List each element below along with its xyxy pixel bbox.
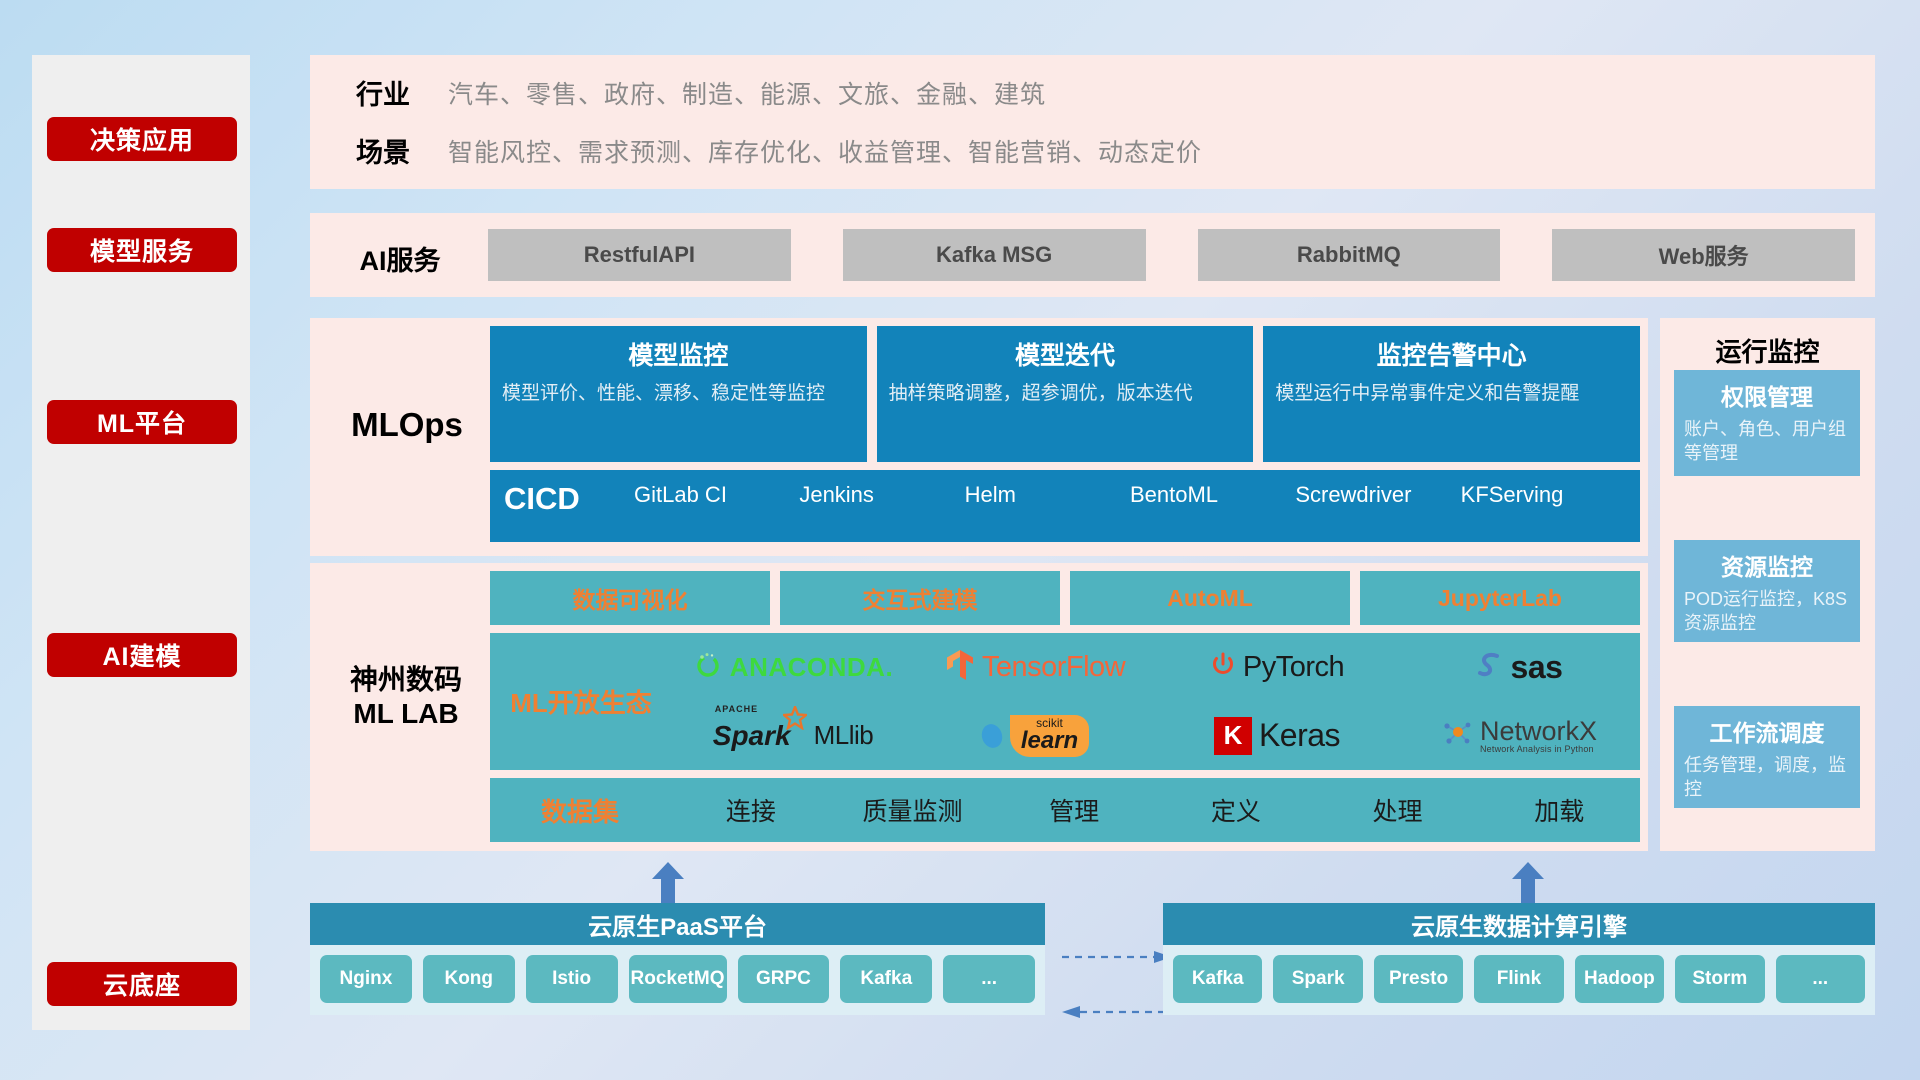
rail-item-ml-platform[interactable]: ML平台	[47, 400, 237, 444]
mlops-label: MLOps	[322, 406, 492, 444]
dataset-item-define[interactable]: 定义	[1155, 792, 1317, 828]
card-title: 模型监控	[502, 336, 855, 372]
cloud-paas-header: 云原生PaaS平台	[310, 903, 1045, 945]
cicd-item-kfserving[interactable]: KFServing	[1461, 482, 1626, 507]
tensorflow-icon	[945, 648, 975, 687]
networkx-subtitle: Network Analysis in Python	[1480, 745, 1597, 754]
arrow-dashed-right	[1062, 950, 1172, 969]
dataset-title: 数据集	[490, 792, 670, 829]
cloud-data-engine-chip-list: Kafka Spark Presto Flink Hadoop Storm ..…	[1163, 945, 1875, 1015]
cloud-chip-nginx[interactable]: Nginx	[320, 955, 412, 1003]
card-title: 模型迭代	[889, 336, 1242, 372]
rail-item-ai-modeling[interactable]: AI建模	[47, 633, 237, 677]
cloud-chip-rocketmq[interactable]: RocketMQ	[629, 955, 727, 1003]
scikit-learn-badge: scikit learn	[1010, 715, 1089, 757]
scenario-row: 场景 智能风控、需求预测、库存优化、收益管理、智能营销、动态定价	[318, 131, 1202, 170]
ai-service-panel: AI服务 RestfulAPI Kafka MSG RabbitMQ Web服务	[310, 213, 1875, 297]
cloud-group-paas: 云原生PaaS平台 Nginx Kong Istio RocketMQ GRPC…	[310, 903, 1045, 1015]
cloud-chip-hadoop[interactable]: Hadoop	[1575, 955, 1664, 1003]
logo-pytorch: PyTorch	[1210, 650, 1344, 685]
tool-interactive-modeling[interactable]: 交互式建模	[780, 571, 1060, 625]
keras-icon: K	[1214, 717, 1252, 755]
tensorflow-wordmark: TensorFlow	[982, 651, 1125, 684]
card-desc: 账户、角色、用户组等管理	[1684, 418, 1850, 466]
logo-anaconda: ANACONDA.	[693, 650, 893, 685]
networkx-icon	[1441, 718, 1473, 753]
cicd-item-screwdriver[interactable]: Screwdriver	[1295, 482, 1460, 507]
logo-scikit-learn: scikit learn	[981, 715, 1089, 757]
ml-lab-label-line2: ML LAB	[318, 697, 494, 731]
cicd-title: CICD	[504, 482, 634, 516]
pytorch-icon	[1210, 650, 1236, 685]
card-title: 监控告警中心	[1275, 336, 1628, 372]
anaconda-icon	[693, 650, 723, 685]
cloud-chip-istio[interactable]: Istio	[526, 955, 618, 1003]
runtime-monitor-panel: 运行监控 权限管理 账户、角色、用户组等管理 资源监控 POD运行监控，K8S资…	[1660, 318, 1875, 851]
ai-service-label: AI服务	[330, 239, 470, 278]
card-desc: 任务管理，调度，监控	[1684, 754, 1850, 802]
monitor-card-permission[interactable]: 权限管理 账户、角色、用户组等管理	[1674, 370, 1860, 476]
ml-lab-label-line1: 神州数码	[318, 663, 494, 697]
cloud-chip-kafka2[interactable]: Kafka	[1173, 955, 1262, 1003]
sas-icon	[1476, 650, 1504, 685]
cicd-item-jenkins[interactable]: Jenkins	[799, 482, 964, 507]
runtime-monitor-title: 运行监控	[1660, 332, 1875, 369]
cloud-chip-storm[interactable]: Storm	[1675, 955, 1764, 1003]
tool-data-visualization[interactable]: 数据可视化	[490, 571, 770, 625]
dataset-item-load[interactable]: 加载	[1478, 792, 1640, 828]
cloud-chip-more2[interactable]: ...	[1776, 955, 1865, 1003]
mlops-panel: MLOps 模型监控 模型评价、性能、漂移、稳定性等监控 模型迭代 抽样策略调整…	[310, 318, 1648, 556]
decision-application-panel: 行业 汽车、零售、政府、制造、能源、文旅、金融、建筑 场景 智能风控、需求预测、…	[310, 55, 1875, 189]
mlops-card-alert-center[interactable]: 监控告警中心 模型运行中异常事件定义和告警提醒	[1263, 326, 1640, 462]
logo-tensorflow: TensorFlow	[945, 648, 1125, 687]
logo-keras: K Keras	[1214, 717, 1340, 755]
spark-icon: APACHE Spark	[713, 720, 791, 752]
card-desc: 模型评价、性能、漂移、稳定性等监控	[502, 381, 855, 406]
mllib-wordmark: MLlib	[814, 720, 874, 751]
industry-values: 汽车、零售、政府、制造、能源、文旅、金融、建筑	[448, 75, 1046, 111]
cloud-group-data-engine: 云原生数据计算引擎 Kafka Spark Presto Flink Hadoo…	[1163, 903, 1875, 1015]
sas-wordmark: sas	[1511, 649, 1563, 686]
scenario-label: 场景	[318, 131, 448, 170]
rail-item-cloud-base[interactable]: 云底座	[47, 962, 237, 1006]
dataset-item-quality[interactable]: 质量监测	[832, 792, 994, 828]
logo-sas: sas	[1476, 649, 1563, 686]
dataset-item-manage[interactable]: 管理	[993, 792, 1155, 828]
cicd-item-bentoml[interactable]: BentoML	[1130, 482, 1295, 507]
cloud-data-engine-header: 云原生数据计算引擎	[1163, 903, 1875, 945]
monitor-card-resource[interactable]: 资源监控 POD运行监控，K8S资源监控	[1674, 540, 1860, 642]
cloud-chip-presto[interactable]: Presto	[1374, 955, 1463, 1003]
ml-ecosystem-label: ML开放生态	[490, 683, 672, 720]
dataset-item-connect[interactable]: 连接	[670, 792, 832, 828]
ml-ecosystem-band: ML开放生态 ANACONDA.	[490, 633, 1640, 770]
mlops-card-list: 模型监控 模型评价、性能、漂移、稳定性等监控 模型迭代 抽样策略调整，超参调优，…	[490, 326, 1640, 462]
industry-row: 行业 汽车、零售、政府、制造、能源、文旅、金融、建筑	[318, 73, 1046, 112]
scenario-values: 智能风控、需求预测、库存优化、收益管理、智能营销、动态定价	[448, 133, 1202, 169]
arrow-up-paas	[650, 862, 686, 904]
tool-automl[interactable]: AutoML	[1070, 571, 1350, 625]
card-desc: 模型运行中异常事件定义和告警提醒	[1275, 381, 1628, 406]
networkx-wordmark-group: NetworkX Network Analysis in Python	[1480, 718, 1597, 754]
dataset-bar: 数据集 连接 质量监测 管理 定义 处理 加载	[490, 778, 1640, 842]
ml-lab-label: 神州数码 ML LAB	[318, 663, 494, 731]
ml-lab-panel: 神州数码 ML LAB 数据可视化 交互式建模 AutoML JupyterLa…	[310, 563, 1648, 851]
card-desc: 抽样策略调整，超参调优，版本迭代	[889, 381, 1242, 406]
cicd-bar: CICD GitLab CI Jenkins Helm BentoML Scre…	[490, 470, 1640, 542]
cloud-chip-grpc[interactable]: GRPC	[738, 955, 830, 1003]
tool-jupyterlab[interactable]: JupyterLab	[1360, 571, 1640, 625]
anaconda-wordmark: ANACONDA.	[730, 652, 893, 683]
networkx-wordmark: NetworkX	[1480, 718, 1597, 745]
learn-word: learn	[1021, 729, 1078, 753]
ml-lab-tool-list: 数据可视化 交互式建模 AutoML JupyterLab	[490, 571, 1640, 625]
cloud-chip-kong[interactable]: Kong	[423, 955, 515, 1003]
stack-layer-rail: 决策应用 模型服务 ML平台 AI建模 云底座	[32, 55, 250, 1030]
rail-item-model-service[interactable]: 模型服务	[47, 228, 237, 272]
dataset-item-process[interactable]: 处理	[1317, 792, 1479, 828]
ai-service-list: RestfulAPI Kafka MSG RabbitMQ Web服务	[488, 229, 1855, 281]
service-restfulapi[interactable]: RestfulAPI	[488, 229, 791, 281]
logo-spark-mllib: APACHE Spark MLlib	[713, 720, 873, 752]
keras-wordmark: Keras	[1259, 717, 1340, 754]
arrow-up-data-engine	[1510, 862, 1546, 904]
cicd-item-gitlab-ci[interactable]: GitLab CI	[634, 482, 799, 507]
cloud-paas-chip-list: Nginx Kong Istio RocketMQ GRPC Kafka ...	[310, 945, 1045, 1015]
industry-label: 行业	[318, 73, 448, 112]
monitor-card-workflow[interactable]: 工作流调度 任务管理，调度，监控	[1674, 706, 1860, 808]
cloud-chip-more[interactable]: ...	[943, 955, 1035, 1003]
card-desc: POD运行监控，K8S资源监控	[1684, 588, 1850, 636]
arrow-dashed-left	[1062, 1005, 1172, 1024]
pytorch-wordmark: PyTorch	[1243, 651, 1344, 684]
card-title: 权限管理	[1684, 378, 1850, 412]
logo-networkx: NetworkX Network Analysis in Python	[1441, 718, 1597, 754]
spark-wordmark: Spark	[713, 720, 791, 751]
card-title: 工作流调度	[1684, 714, 1850, 748]
cloud-chip-spark[interactable]: Spark	[1273, 955, 1362, 1003]
rail-item-decision-app[interactable]: 决策应用	[47, 117, 237, 161]
spark-apache-text: APACHE	[715, 704, 758, 714]
mlops-card-model-monitoring[interactable]: 模型监控 模型评价、性能、漂移、稳定性等监控	[490, 326, 867, 462]
ml-ecosystem-logos: ANACONDA. TensorFlow	[672, 633, 1640, 770]
service-rabbitmq[interactable]: RabbitMQ	[1198, 229, 1501, 281]
cloud-chip-flink[interactable]: Flink	[1474, 955, 1563, 1003]
card-title: 资源监控	[1684, 548, 1850, 582]
cicd-item-helm[interactable]: Helm	[965, 482, 1130, 507]
mlops-card-model-iteration[interactable]: 模型迭代 抽样策略调整，超参调优，版本迭代	[877, 326, 1254, 462]
service-kafka-msg[interactable]: Kafka MSG	[843, 229, 1146, 281]
cloud-chip-kafka[interactable]: Kafka	[840, 955, 932, 1003]
service-web-service[interactable]: Web服务	[1552, 229, 1855, 281]
